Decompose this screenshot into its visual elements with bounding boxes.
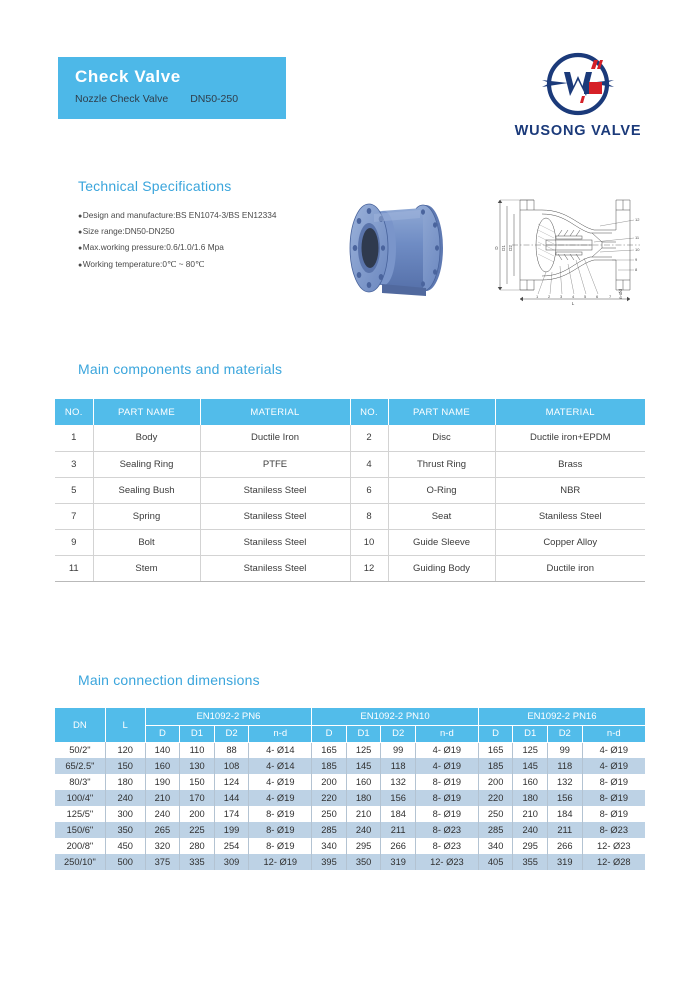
- subheader-pn16-d1: D1: [513, 725, 548, 742]
- subheader-pn10-d1: D1: [346, 725, 381, 742]
- cell-pn10-d1: 180: [346, 790, 381, 806]
- table-row: 3 Sealing Ring PTFE 4 Thrust Ring Brass: [55, 451, 645, 477]
- spec-item: ●Max.working pressure:0.6/1.0/1.6 Mpa: [78, 240, 338, 256]
- cell-pn16-d: 220: [478, 790, 513, 806]
- cell-pn10-d2: 184: [381, 806, 416, 822]
- cell-part-name: Body: [93, 425, 200, 451]
- cell-pn6-d2: 144: [214, 790, 249, 806]
- cell-dn: 100/4": [55, 790, 105, 806]
- cell-no: 7: [55, 503, 93, 529]
- spec-item-text: Size range:DN50-DN250: [83, 226, 175, 236]
- cell-no: 3: [55, 451, 93, 477]
- table-row: 1 Body Ductile Iron 2 Disc Ductile iron+…: [55, 425, 645, 451]
- size-code: DN50-250: [190, 93, 238, 105]
- group-header-pn6: EN1092-2 PN6: [145, 708, 312, 725]
- cell-pn10-d: 165: [312, 742, 347, 758]
- cell-pn16-d: 200: [478, 774, 513, 790]
- cell-pn6-d: 140: [145, 742, 180, 758]
- page-subtitle: Nozzle Check ValveDN50-250: [75, 90, 286, 108]
- cell-l: 180: [105, 774, 145, 790]
- group-header-pn10: EN1092-2 PN10: [312, 708, 479, 725]
- cell-pn16-d2: 132: [547, 774, 582, 790]
- spec-item: ●Size range:DN50-DN250: [78, 224, 338, 240]
- cell-pn10-nd: 8- Ø19: [415, 790, 478, 806]
- cell-material: Staniless Steel: [200, 555, 350, 581]
- cell-pn6-nd: 4- Ø19: [249, 774, 312, 790]
- cell-material: Staniless Steel: [200, 503, 350, 529]
- cell-pn16-d1: 125: [513, 742, 548, 758]
- cell-part-name-2: Guiding Body: [388, 555, 495, 581]
- svg-text:8: 8: [635, 267, 638, 272]
- cell-pn10-nd: 8- Ø23: [415, 822, 478, 838]
- cell-no: 9: [55, 529, 93, 555]
- wusong-logo-icon: [498, 50, 658, 122]
- cell-pn10-d1: 160: [346, 774, 381, 790]
- svg-text:12: 12: [635, 217, 640, 222]
- cell-pn10-d: 340: [312, 838, 347, 854]
- cell-pn10-d1: 350: [346, 854, 381, 870]
- cell-no-2: 4: [350, 451, 388, 477]
- cell-pn6-nd: 8- Ø19: [249, 822, 312, 838]
- cell-dn: 200/8": [55, 838, 105, 854]
- cell-part-name-2: Disc: [388, 425, 495, 451]
- product-photo: [322, 192, 468, 308]
- cell-l: 500: [105, 854, 145, 870]
- cell-pn6-d2: 124: [214, 774, 249, 790]
- cell-pn10-d1: 240: [346, 822, 381, 838]
- cell-pn16-d1: 180: [513, 790, 548, 806]
- cell-pn10-nd: 8- Ø23: [415, 838, 478, 854]
- cell-part-name: Sealing Bush: [93, 477, 200, 503]
- cell-pn16-d2: 118: [547, 758, 582, 774]
- cell-pn6-nd: 8- Ø19: [249, 838, 312, 854]
- subtitle-text: Nozzle Check Valve: [75, 93, 168, 105]
- svg-text:D2: D2: [508, 245, 513, 251]
- cell-pn10-d2: 156: [381, 790, 416, 806]
- cell-pn16-d1: 145: [513, 758, 548, 774]
- column-header-material-2: MATERIAL: [495, 399, 645, 425]
- table-row: 7 Spring Staniless Steel 8 Seat Staniles…: [55, 503, 645, 529]
- cell-l: 350: [105, 822, 145, 838]
- cell-no-2: 2: [350, 425, 388, 451]
- components-materials-table: NO. PART NAME MATERIAL NO. PART NAME MAT…: [55, 399, 645, 582]
- cell-dn: 150/6": [55, 822, 105, 838]
- cell-pn6-d1: 150: [180, 774, 215, 790]
- cell-pn10-d: 395: [312, 854, 347, 870]
- spec-item: ●Design and manufacture:BS EN1074-3/BS E…: [78, 208, 338, 224]
- cell-pn10-d1: 145: [346, 758, 381, 774]
- cell-part-name-2: O-Ring: [388, 477, 495, 503]
- table-header-row-group: DN L EN1092-2 PN6 EN1092-2 PN10 EN1092-2…: [55, 708, 645, 725]
- cell-pn6-d: 210: [145, 790, 180, 806]
- cell-pn6-d1: 170: [180, 790, 215, 806]
- cell-l: 150: [105, 758, 145, 774]
- spec-item: ●Working temperature:0℃ ~ 80℃: [78, 257, 338, 273]
- cell-pn6-nd: 8- Ø19: [249, 806, 312, 822]
- cell-pn6-d: 160: [145, 758, 180, 774]
- subheader-pn16-nd: n-d: [582, 725, 645, 742]
- page-header: Check Valve Nozzle Check ValveDN50-250 W…: [0, 0, 700, 150]
- cell-pn16-d2: 211: [547, 822, 582, 838]
- bullet-icon: ●: [78, 213, 82, 220]
- subheader-pn10-nd: n-d: [415, 725, 478, 742]
- cell-part-name: Stem: [93, 555, 200, 581]
- group-header-pn16: EN1092-2 PN16: [478, 708, 645, 725]
- bullet-icon: ●: [78, 262, 82, 269]
- cell-pn10-nd: 8- Ø19: [415, 774, 478, 790]
- cell-pn16-d2: 266: [547, 838, 582, 854]
- cell-pn6-d2: 108: [214, 758, 249, 774]
- cell-pn16-d1: 295: [513, 838, 548, 854]
- subheader-pn6-d: D: [145, 725, 180, 742]
- cell-pn16-nd: 8- Ø23: [582, 822, 645, 838]
- cell-pn6-nd: 4- Ø14: [249, 742, 312, 758]
- cell-material: PTFE: [200, 451, 350, 477]
- cell-material-2: Ductile iron: [495, 555, 645, 581]
- cell-part-name: Spring: [93, 503, 200, 529]
- cell-pn10-d1: 125: [346, 742, 381, 758]
- spec-item-text: Working temperature:0℃ ~ 80℃: [83, 259, 205, 269]
- svg-text:11: 11: [635, 235, 640, 240]
- cell-pn10-nd: 4- Ø19: [415, 742, 478, 758]
- cell-part-name-2: Thrust Ring: [388, 451, 495, 477]
- cell-material: Staniless Steel: [200, 477, 350, 503]
- svg-text:7: 7: [609, 294, 612, 299]
- cell-no-2: 8: [350, 503, 388, 529]
- cell-pn6-d2: 199: [214, 822, 249, 838]
- table-row: 11 Stem Staniless Steel 12 Guiding Body …: [55, 555, 645, 581]
- table-row: 50/2"120140110884- Ø14165125994- Ø191651…: [55, 742, 645, 758]
- technical-specifications-list: ●Design and manufacture:BS EN1074-3/BS E…: [78, 208, 338, 273]
- table-row: 125/5"3002402001748- Ø192502101848- Ø192…: [55, 806, 645, 822]
- cell-pn6-d2: 88: [214, 742, 249, 758]
- column-header-dn: DN: [55, 708, 105, 742]
- cell-pn16-nd: 8- Ø19: [582, 806, 645, 822]
- cell-pn6-d: 190: [145, 774, 180, 790]
- table-row: 250/10"50037533530912- Ø1939535031912- Ø…: [55, 854, 645, 870]
- cell-no: 5: [55, 477, 93, 503]
- cell-pn6-d1: 130: [180, 758, 215, 774]
- table-row: 5 Sealing Bush Staniless Steel 6 O-Ring …: [55, 477, 645, 503]
- cell-l: 450: [105, 838, 145, 854]
- svg-text:9: 9: [635, 257, 638, 262]
- cell-pn6-d1: 335: [180, 854, 215, 870]
- subheader-pn10-d: D: [312, 725, 347, 742]
- column-header-no: NO.: [55, 399, 93, 425]
- bullet-icon: ●: [78, 245, 82, 252]
- main-connection-dimensions-heading: Main connection dimensions: [78, 672, 260, 688]
- cell-pn16-nd: 4- Ø19: [582, 758, 645, 774]
- cell-pn6-d2: 309: [214, 854, 249, 870]
- cell-l: 300: [105, 806, 145, 822]
- cell-pn16-nd: 8- Ø19: [582, 790, 645, 806]
- cell-no-2: 12: [350, 555, 388, 581]
- cell-l: 240: [105, 790, 145, 806]
- subheader-pn6-d1: D1: [180, 725, 215, 742]
- company-logo: WUSONG VALVE: [498, 50, 658, 150]
- svg-text:2: 2: [548, 294, 551, 299]
- technical-drawing: 12 11 10 9 8 1 2 3 4 5 6 7 D D1 D2 L n-Ø…: [482, 186, 658, 308]
- svg-text:D1: D1: [501, 245, 506, 251]
- subheader-pn10-d2: D2: [381, 725, 416, 742]
- subheader-pn16-d2: D2: [547, 725, 582, 742]
- table-row: 100/4"2402101701444- Ø192201801568- Ø192…: [55, 790, 645, 806]
- cell-pn16-d: 185: [478, 758, 513, 774]
- cell-pn16-d2: 99: [547, 742, 582, 758]
- cell-material-2: Staniless Steel: [495, 503, 645, 529]
- cell-pn6-d1: 225: [180, 822, 215, 838]
- spec-item-text: Design and manufacture:BS EN1074-3/BS EN…: [83, 210, 277, 220]
- subheader-pn16-d: D: [478, 725, 513, 742]
- column-header-no-2: NO.: [350, 399, 388, 425]
- cell-pn16-nd: 4- Ø19: [582, 742, 645, 758]
- cell-part-name-2: Guide Sleeve: [388, 529, 495, 555]
- cell-pn10-d2: 266: [381, 838, 416, 854]
- cell-pn16-d: 285: [478, 822, 513, 838]
- cell-pn16-d: 250: [478, 806, 513, 822]
- cell-pn10-d1: 295: [346, 838, 381, 854]
- spec-item-text: Max.working pressure:0.6/1.0/1.6 Mpa: [83, 242, 224, 252]
- cell-material-2: Ductile iron+EPDM: [495, 425, 645, 451]
- subheader-pn6-d2: D2: [214, 725, 249, 742]
- cell-pn10-nd: 12- Ø23: [415, 854, 478, 870]
- svg-text:D: D: [494, 246, 499, 250]
- cell-pn6-d: 240: [145, 806, 180, 822]
- cell-dn: 125/5": [55, 806, 105, 822]
- cell-pn10-d2: 118: [381, 758, 416, 774]
- cell-pn16-d2: 184: [547, 806, 582, 822]
- connection-dimensions-table: DN L EN1092-2 PN6 EN1092-2 PN10 EN1092-2…: [55, 708, 645, 870]
- column-header-part-name: PART NAME: [93, 399, 200, 425]
- cell-pn16-d: 405: [478, 854, 513, 870]
- column-header-material: MATERIAL: [200, 399, 350, 425]
- svg-text:3: 3: [560, 294, 563, 299]
- brand-name: WUSONG VALVE: [498, 123, 658, 139]
- cell-pn16-nd: 12- Ø23: [582, 838, 645, 854]
- cell-pn6-d2: 254: [214, 838, 249, 854]
- column-header-l: L: [105, 708, 145, 742]
- cell-pn16-d1: 160: [513, 774, 548, 790]
- bullet-icon: ●: [78, 229, 82, 236]
- cell-pn6-nd: 4- Ø19: [249, 790, 312, 806]
- svg-text:L: L: [572, 301, 575, 306]
- cell-pn16-d: 340: [478, 838, 513, 854]
- svg-text:5: 5: [584, 294, 587, 299]
- cell-pn6-d2: 174: [214, 806, 249, 822]
- table-header-row: NO. PART NAME MATERIAL NO. PART NAME MAT…: [55, 399, 645, 425]
- svg-text:n-Ød: n-Ød: [618, 289, 623, 300]
- cell-pn6-nd: 4- Ø14: [249, 758, 312, 774]
- cell-part-name: Sealing Ring: [93, 451, 200, 477]
- page-title: Check Valve: [75, 66, 286, 88]
- check-valve-photo-illustration: [322, 192, 468, 308]
- cell-pn16-d1: 210: [513, 806, 548, 822]
- cell-pn10-d2: 319: [381, 854, 416, 870]
- cell-pn6-d1: 280: [180, 838, 215, 854]
- cell-pn16-d1: 355: [513, 854, 548, 870]
- cell-pn10-d: 220: [312, 790, 347, 806]
- subheader-pn6-nd: n-d: [249, 725, 312, 742]
- table-row: 80/3"1801901501244- Ø192001601328- Ø1920…: [55, 774, 645, 790]
- cell-dn: 80/3": [55, 774, 105, 790]
- table-row: 200/8"4503202802548- Ø193402952668- Ø233…: [55, 838, 645, 854]
- cell-pn10-d: 250: [312, 806, 347, 822]
- cell-no: 11: [55, 555, 93, 581]
- cell-pn10-d: 185: [312, 758, 347, 774]
- cell-no: 1: [55, 425, 93, 451]
- cell-l: 120: [105, 742, 145, 758]
- table-row: 9 Bolt Staniless Steel 10 Guide Sleeve C…: [55, 529, 645, 555]
- cell-pn6-d1: 110: [180, 742, 215, 758]
- cell-material: Staniless Steel: [200, 529, 350, 555]
- cell-dn: 50/2": [55, 742, 105, 758]
- column-header-part-name-2: PART NAME: [388, 399, 495, 425]
- cell-pn16-d1: 240: [513, 822, 548, 838]
- cell-pn10-d1: 210: [346, 806, 381, 822]
- cell-pn6-d: 265: [145, 822, 180, 838]
- table-row: 150/6"3502652251998- Ø192852402118- Ø232…: [55, 822, 645, 838]
- cell-pn16-nd: 12- Ø28: [582, 854, 645, 870]
- valve-cross-section-drawing: 12 11 10 9 8 1 2 3 4 5 6 7 D D1 D2 L n-Ø…: [482, 186, 658, 308]
- svg-text:10: 10: [635, 247, 640, 252]
- technical-specifications-heading: Technical Specifications: [78, 178, 231, 194]
- cell-part-name: Bolt: [93, 529, 200, 555]
- cell-pn6-d: 320: [145, 838, 180, 854]
- cell-pn16-nd: 8- Ø19: [582, 774, 645, 790]
- cell-no-2: 10: [350, 529, 388, 555]
- cell-material-2: Copper Alloy: [495, 529, 645, 555]
- main-components-heading: Main components and materials: [78, 361, 282, 377]
- cell-pn10-d: 200: [312, 774, 347, 790]
- cell-material-2: Brass: [495, 451, 645, 477]
- svg-text:1: 1: [536, 294, 539, 299]
- cell-material-2: NBR: [495, 477, 645, 503]
- cell-dn: 65/2.5": [55, 758, 105, 774]
- cell-part-name-2: Seat: [388, 503, 495, 529]
- cell-pn10-d: 285: [312, 822, 347, 838]
- cell-pn10-nd: 8- Ø19: [415, 806, 478, 822]
- svg-text:6: 6: [596, 294, 599, 299]
- title-banner: Check Valve Nozzle Check ValveDN50-250: [58, 57, 286, 119]
- cell-pn10-d2: 99: [381, 742, 416, 758]
- table-row: 65/2.5"1501601301084- Ø141851451184- Ø19…: [55, 758, 645, 774]
- cell-pn10-d2: 211: [381, 822, 416, 838]
- cell-material: Ductile Iron: [200, 425, 350, 451]
- cell-pn16-d: 165: [478, 742, 513, 758]
- cell-pn6-d: 375: [145, 854, 180, 870]
- cell-pn10-nd: 4- Ø19: [415, 758, 478, 774]
- cell-no-2: 6: [350, 477, 388, 503]
- cell-pn6-d1: 200: [180, 806, 215, 822]
- svg-text:4: 4: [572, 294, 575, 299]
- cell-pn16-d2: 319: [547, 854, 582, 870]
- cell-pn10-d2: 132: [381, 774, 416, 790]
- cell-pn16-d2: 156: [547, 790, 582, 806]
- cell-dn: 250/10": [55, 854, 105, 870]
- cell-pn6-nd: 12- Ø19: [249, 854, 312, 870]
